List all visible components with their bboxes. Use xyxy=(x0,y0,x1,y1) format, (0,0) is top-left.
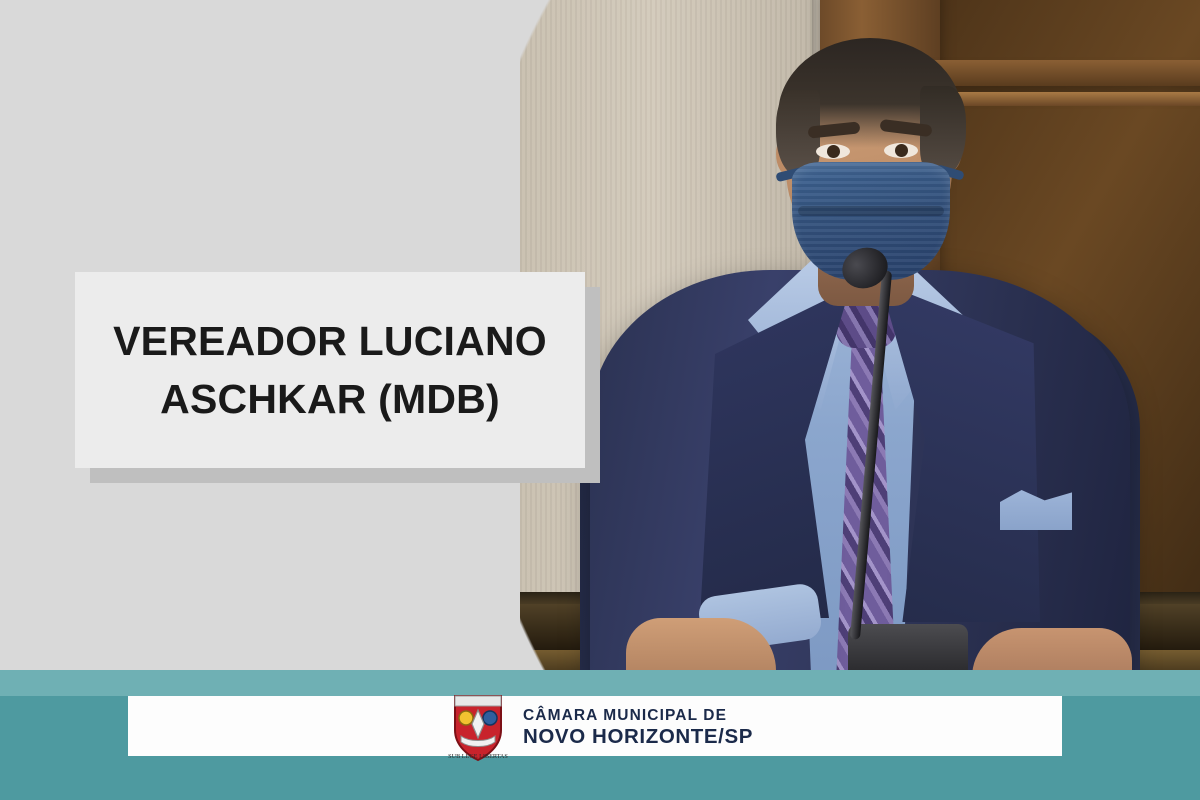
page-title-line-1: VEREADOR LUCIANO xyxy=(113,312,547,370)
pupil-right xyxy=(895,144,908,157)
svg-text:SUB LEGE LIBERTAS: SUB LEGE LIBERTAS xyxy=(448,753,508,760)
councilman-figure xyxy=(580,20,1140,760)
title-card: VEREADOR LUCIANO ASCHKAR (MDB) xyxy=(75,272,585,468)
footer-logo-line-1: CÂMARA MUNICIPAL DE xyxy=(523,706,753,725)
footer-logo-text: CÂMARA MUNICIPAL DE NOVO HORIZONTE/SP xyxy=(523,706,753,749)
crest-coat-of-arms-icon: SUB LEGE LIBERTAS xyxy=(447,690,509,764)
eye-right xyxy=(884,143,918,158)
page-title-line-2: ASCHKAR (MDB) xyxy=(160,370,500,428)
page-title: VEREADOR LUCIANO ASCHKAR (MDB) xyxy=(75,272,585,468)
footer-logo-line-2: NOVO HORIZONTE/SP xyxy=(523,725,753,749)
footer-band: SUB LEGE LIBERTAS CÂMARA MUNICIPAL DE NO… xyxy=(0,670,1200,800)
pupil-left xyxy=(827,145,840,158)
banner-canvas: VEREADOR LUCIANO ASCHKAR (MDB) SUB LEGE … xyxy=(0,0,1200,800)
eye-left xyxy=(816,144,850,159)
face-mask-fold xyxy=(798,206,944,216)
footer-logo-group: SUB LEGE LIBERTAS CÂMARA MUNICIPAL DE NO… xyxy=(0,684,1200,770)
